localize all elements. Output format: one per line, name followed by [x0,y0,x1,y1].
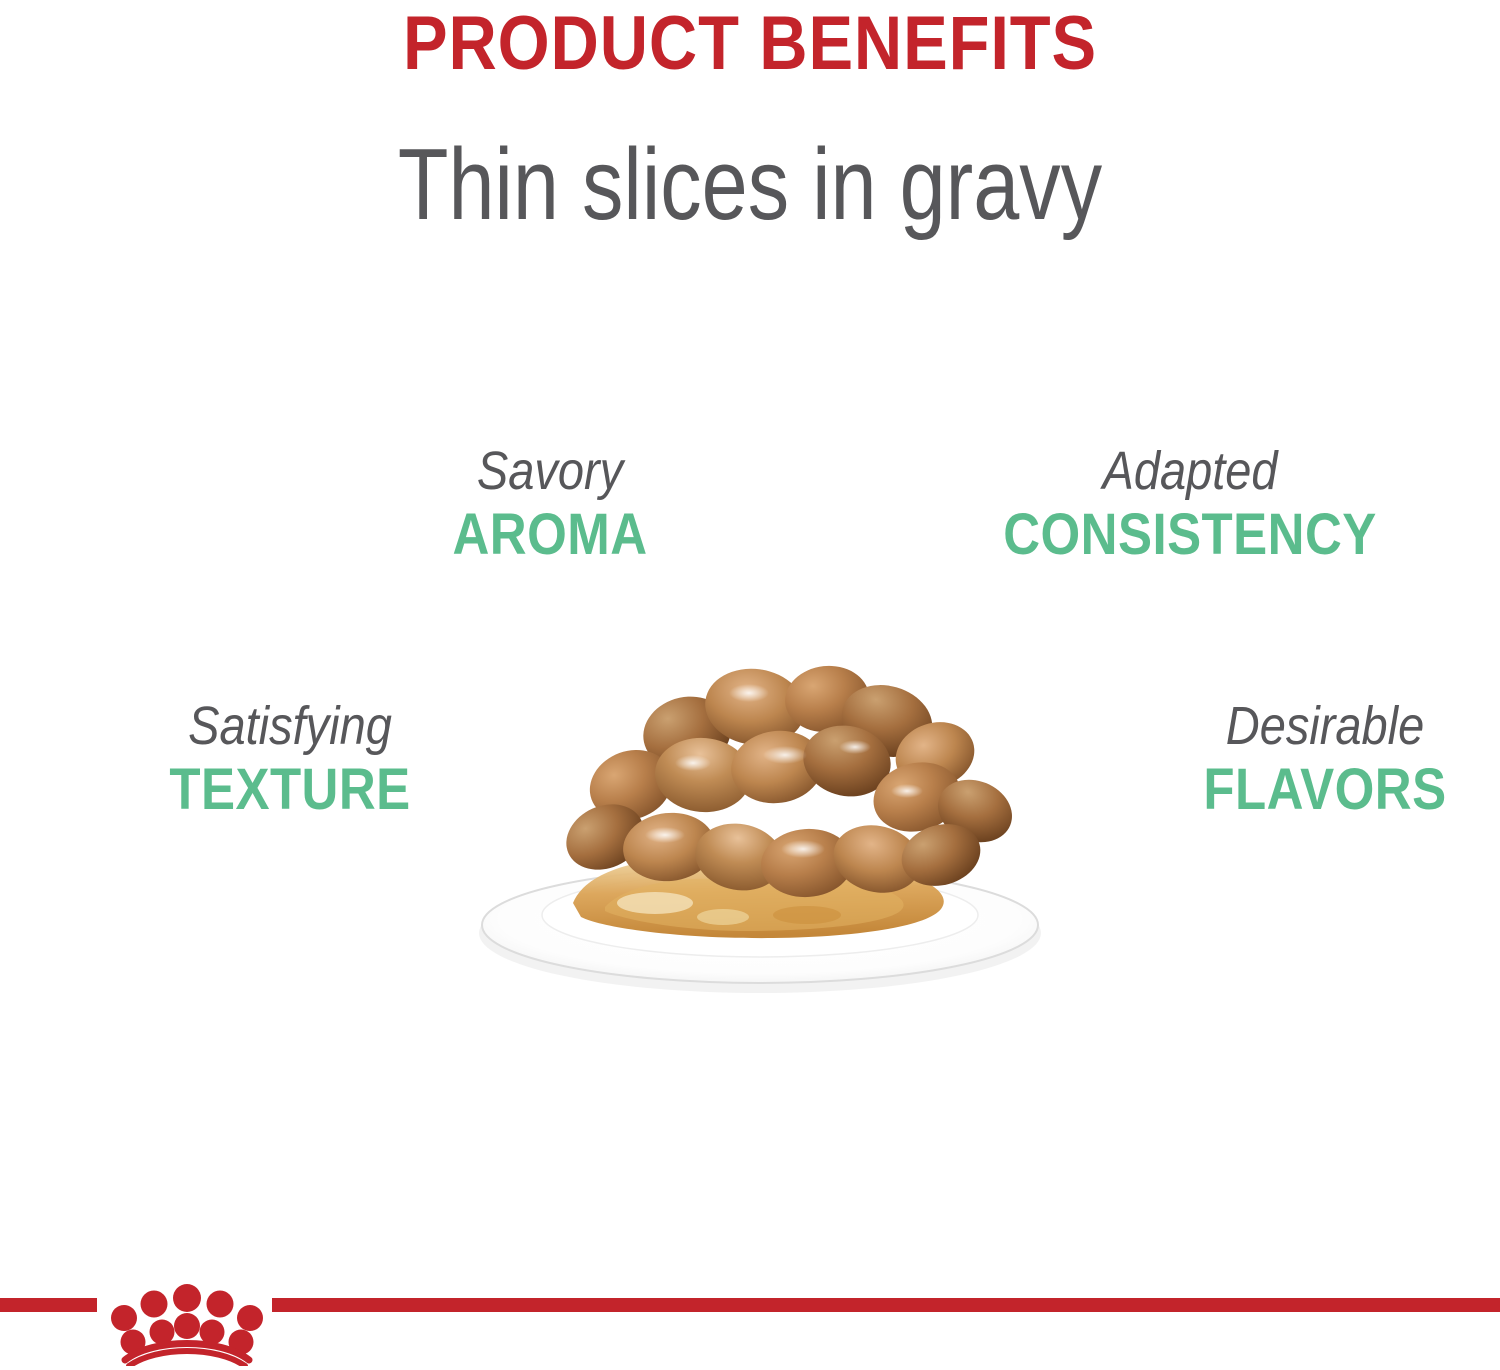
benefit-texture-noun: TEXTURE [123,757,457,823]
benefit-flavors: Desirable FLAVORS [1150,695,1500,823]
crown-arcs [125,1344,249,1367]
benefit-aroma: Savory AROMA [360,440,740,568]
benefit-consistency-noun: CONSISTENCY [961,502,1419,568]
benefit-flavors-adjective: Desirable [1173,695,1478,757]
benefit-texture-adjective: Satisfying [125,695,456,757]
page-title: PRODUCT BENEFITS [90,2,1410,86]
product-food-image [455,615,1065,1005]
page-subtitle: Thin slices in gravy [135,125,1365,245]
benefit-flavors-noun: FLAVORS [1171,757,1479,823]
food-illustration [455,615,1065,1005]
royal-canin-crown-logo [101,1280,273,1366]
benefit-consistency-adjective: Adapted [964,440,1416,502]
footer-bar-right [272,1298,1500,1312]
footer-bar-left [0,1298,97,1312]
benefit-consistency: Adapted CONSISTENCY [930,440,1450,568]
benefit-aroma-noun: AROMA [383,502,717,568]
product-benefits-page: PRODUCT BENEFITS Thin slices in gravy Sa… [0,0,1500,1370]
footer [0,1280,1500,1370]
benefit-aroma-adjective: Savory [385,440,716,502]
benefit-texture: Satisfying TEXTURE [100,695,480,823]
